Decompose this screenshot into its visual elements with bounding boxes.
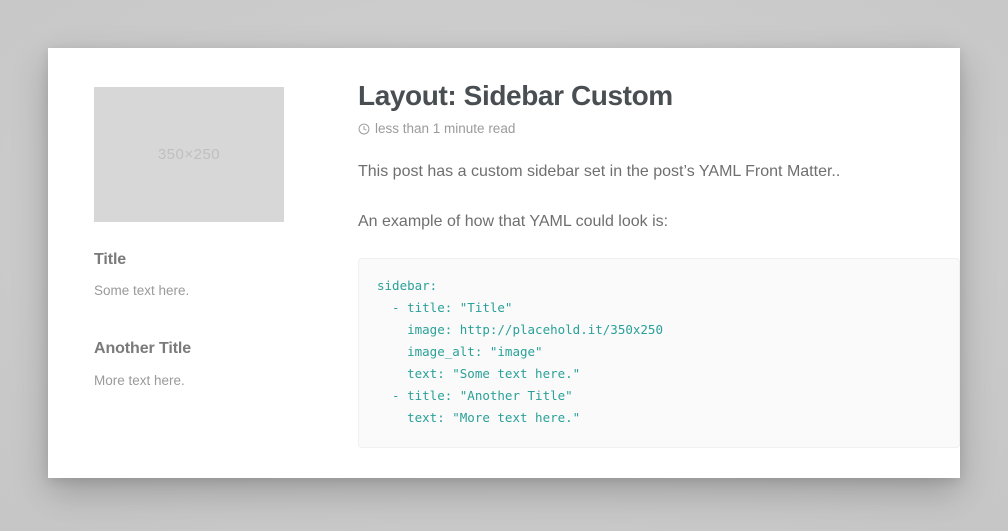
code-content: sidebar: - title: "Title" image: http://… xyxy=(377,275,939,429)
code-line: - title: "Title" xyxy=(377,297,939,319)
sidebar-image-dimensions-label: 350×250 xyxy=(158,146,220,163)
page-title: Layout: Sidebar Custom xyxy=(358,80,960,112)
sidebar-block-text: Some text here. xyxy=(94,281,304,301)
post-meta: less than 1 minute read xyxy=(358,121,960,136)
read-time-label: less than 1 minute read xyxy=(375,121,515,136)
clock-icon xyxy=(358,123,370,135)
sidebar-block-text: More text here. xyxy=(94,371,304,391)
post-paragraph-2: An example of how that YAML could look i… xyxy=(358,210,960,234)
sidebar-block-title: Title xyxy=(94,250,304,269)
code-line: text: "Some text here." xyxy=(377,363,939,385)
sidebar-block-1: Title Some text here. xyxy=(94,250,304,301)
code-line: sidebar: xyxy=(377,275,939,297)
post-card: 350×250 Title Some text here. Another Ti… xyxy=(48,48,960,478)
sidebar-image-placeholder: 350×250 xyxy=(94,87,284,222)
code-line: text: "More text here." xyxy=(377,407,939,429)
yaml-code-block: sidebar: - title: "Title" image: http://… xyxy=(358,258,960,448)
sidebar-block-2: Another Title More text here. xyxy=(94,339,304,390)
post-paragraph-1: This post has a custom sidebar set in th… xyxy=(358,160,960,184)
code-line: image_alt: "image" xyxy=(377,341,939,363)
post-content: Layout: Sidebar Custom less than 1 minut… xyxy=(358,80,960,448)
sidebar-block-title: Another Title xyxy=(94,339,304,358)
post-sidebar: 350×250 Title Some text here. Another Ti… xyxy=(94,87,304,391)
code-line: image: http://placehold.it/350x250 xyxy=(377,319,939,341)
code-line: - title: "Another Title" xyxy=(377,385,939,407)
